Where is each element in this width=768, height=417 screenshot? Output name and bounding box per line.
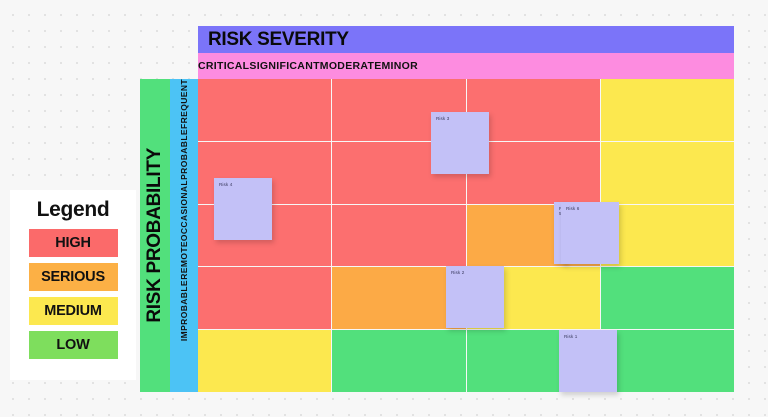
severity-header-minor: MINOR	[382, 53, 419, 79]
legend-label: LOW	[56, 337, 89, 353]
legend-label: MEDIUM	[44, 303, 102, 319]
probability-header-improbable: IMPROBABLE	[170, 280, 198, 341]
severity-header-significant: SIGNIFICANT	[249, 53, 319, 79]
legend-item-medium: MEDIUM	[29, 297, 118, 325]
probability-header-occasional: OCCASIONAL	[170, 180, 198, 241]
risk-cell-improbable-significant[interactable]	[332, 330, 465, 392]
risk-cell-probable-minor[interactable]	[601, 142, 734, 204]
risk-card-risk-3[interactable]: Risk 3	[431, 112, 489, 174]
legend-label: HIGH	[55, 235, 90, 251]
severity-column-headers: CRITICAL SIGNIFICANT MODERATE MINOR	[198, 53, 734, 79]
risk-card-risk-1[interactable]: Risk 1	[559, 330, 617, 392]
legend-label: SERIOUS	[41, 269, 105, 285]
risk-card-risk-6[interactable]: Risk 6	[561, 202, 619, 264]
risk-cell-improbable-minor[interactable]	[601, 330, 734, 392]
legend-item-low: LOW	[29, 331, 118, 359]
risk-card-label: Risk 2	[451, 270, 464, 275]
probability-axis-title: RISK PROBABILITY	[140, 79, 170, 392]
risk-card-label: Risk 3	[436, 116, 449, 121]
risk-cell-improbable-critical[interactable]	[198, 330, 331, 392]
legend-title: Legend	[37, 198, 110, 222]
probability-header-probable: PROBABLE	[170, 129, 198, 180]
risk-cell-occasional-significant[interactable]	[332, 205, 465, 267]
risk-cell-remote-minor[interactable]	[601, 267, 734, 329]
risk-matrix: RISK SEVERITY CRITICAL SIGNIFICANT MODER…	[140, 26, 734, 392]
severity-header-moderate: MODERATE	[320, 53, 382, 79]
risk-card-risk-4[interactable]: Risk 4	[214, 178, 272, 240]
probability-header-frequent: FREQUENT	[170, 79, 198, 129]
legend-item-high: HIGH	[29, 229, 118, 257]
risk-card-label: Risk 1	[564, 334, 577, 339]
risk-cell-remote-critical[interactable]	[198, 267, 331, 329]
risk-card-risk-2[interactable]: Risk 2	[446, 266, 504, 328]
risk-cell-frequent-minor[interactable]	[601, 79, 734, 141]
risk-card-label: Risk 6	[566, 206, 579, 211]
risk-card-label: Risk 4	[219, 182, 232, 187]
legend-item-serious: SERIOUS	[29, 263, 118, 291]
risk-cell-frequent-critical[interactable]	[198, 79, 331, 141]
risk-cell-occasional-minor[interactable]	[601, 205, 734, 267]
severity-header-critical: CRITICAL	[198, 53, 249, 79]
probability-row-headers: FREQUENT PROBABLE OCCASIONAL REMOTE IMPR…	[170, 79, 198, 392]
legend-panel: Legend HIGH SERIOUS MEDIUM LOW	[10, 190, 136, 380]
probability-axis-title-text: RISK PROBABILITY	[144, 148, 166, 323]
probability-header-remote: REMOTE	[170, 241, 198, 280]
severity-axis-title: RISK SEVERITY	[198, 26, 734, 53]
